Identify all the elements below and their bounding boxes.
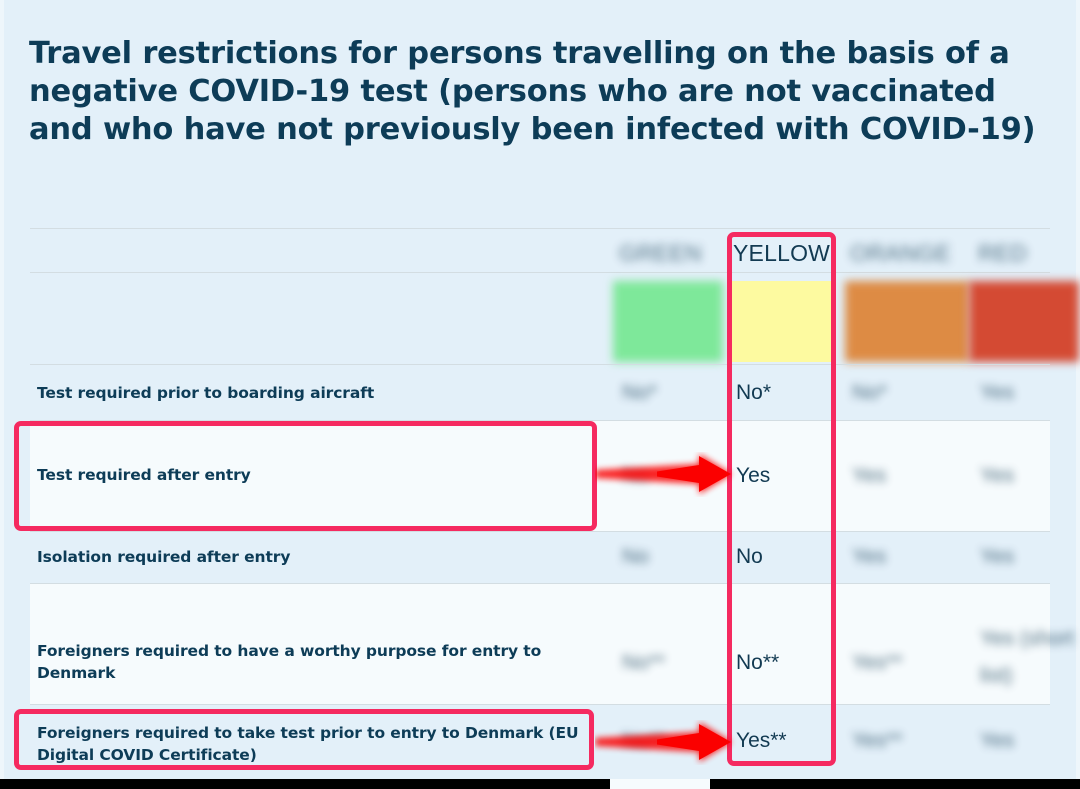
cell-yellow: No** [736, 651, 846, 675]
row-label: Test required prior to boarding aircraft [37, 383, 620, 405]
bottom-notch [610, 779, 710, 789]
swatch-orange [845, 281, 969, 362]
table-row: Foreigners required to take test prior t… [30, 704, 1050, 779]
cell-orange: Yes [852, 464, 962, 488]
cell-red: Yes [980, 729, 1080, 753]
column-header-yellow: YELLOW [733, 238, 830, 268]
cell-red: Yes [980, 464, 1080, 488]
cell-green: No** [622, 651, 732, 675]
arrow-to-test-after-entry [595, 452, 740, 497]
cell-red: Yes [980, 381, 1080, 405]
color-swatch-band [30, 281, 1050, 362]
swatch-red [969, 281, 1079, 362]
cell-yellow: No* [736, 381, 846, 405]
swatch-yellow [730, 281, 835, 362]
row-label: Foreigners required to have a worthy pur… [37, 641, 620, 684]
cell-green: No* [622, 381, 732, 405]
arrow-to-foreigners-test-prior [595, 720, 740, 765]
table-column-headers: GREEN YELLOW ORANGE RED [30, 238, 1050, 272]
row-label: Foreigners required to take test prior t… [37, 723, 620, 766]
cell-orange: No* [852, 381, 962, 405]
cell-yellow: No [736, 545, 846, 569]
cell-green: No [622, 545, 732, 569]
table-row: Foreigners required to have a worthy pur… [30, 583, 1050, 704]
table-divider-top [30, 228, 1050, 229]
row-label: Test required after entry [37, 465, 620, 487]
cell-orange: Yes [852, 545, 962, 569]
cell-yellow: Yes** [736, 729, 846, 753]
cell-orange: Yes** [852, 651, 962, 675]
document-page: Travel restrictions for persons travelli… [0, 0, 1080, 789]
table-row: Test required prior to boarding aircraft… [30, 364, 1050, 420]
table-divider-headers [30, 272, 1050, 273]
cell-red: Yes (short list) [980, 620, 1076, 694]
bottom-bar [0, 779, 1080, 789]
cell-red: Yes [980, 545, 1080, 569]
row-label: Isolation required after entry [37, 547, 620, 569]
column-header-orange: ORANGE [850, 238, 951, 268]
column-header-red: RED [978, 238, 1027, 268]
column-header-green: GREEN [619, 238, 702, 268]
page-title: Travel restrictions for persons travelli… [29, 35, 1039, 149]
cell-orange: Yes** [852, 729, 962, 753]
page-edge-left [0, 0, 4, 789]
cell-yellow: Yes [736, 464, 846, 488]
table-row: Test required after entry No Yes Yes Yes [30, 420, 1050, 531]
table-row: Isolation required after entry No No Yes… [30, 531, 1050, 583]
swatch-green [613, 281, 723, 362]
